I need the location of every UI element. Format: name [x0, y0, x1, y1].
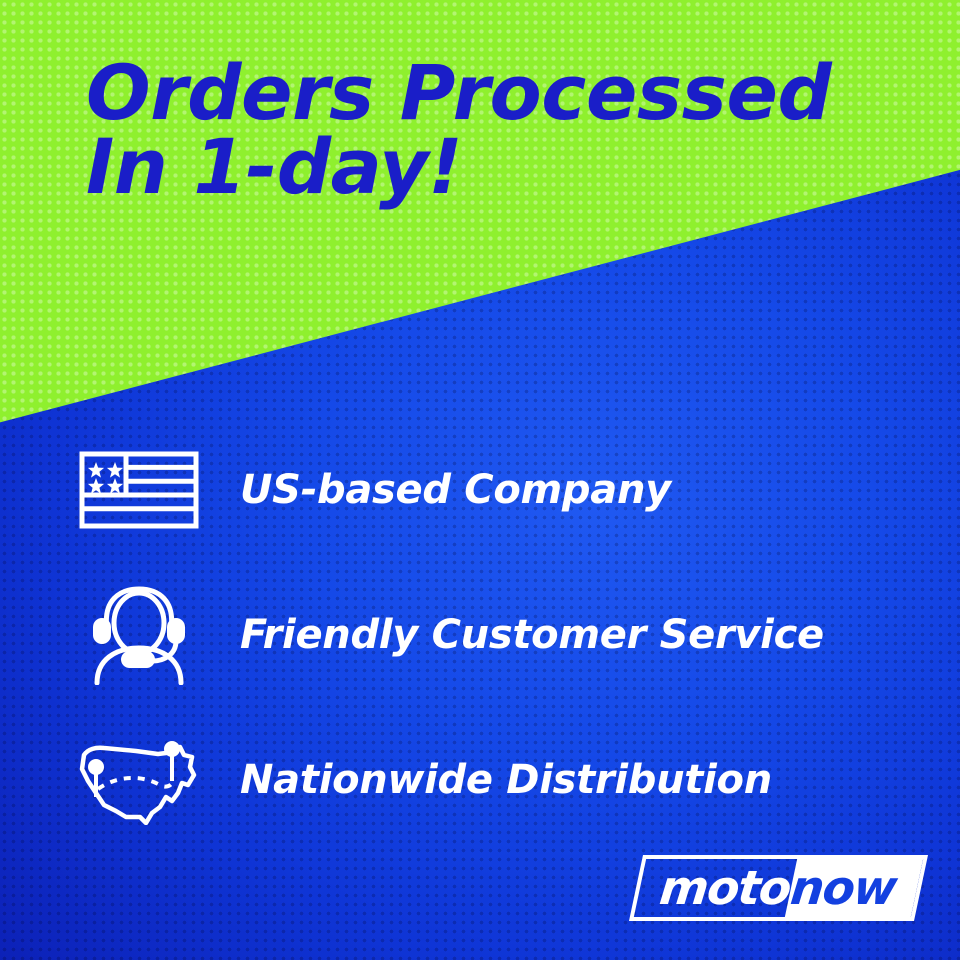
feature-list: US-based Company	[74, 440, 904, 830]
logo-word-now: now	[788, 865, 898, 912]
feature-label-us-based: US-based Company	[240, 467, 671, 513]
us-map-pins-icon	[74, 735, 204, 825]
headset-agent-icon	[74, 585, 204, 685]
promo-poster: Orders Processed In 1-day!	[0, 0, 960, 960]
feature-item-us-based: US-based Company	[74, 440, 904, 540]
headline: Orders Processed In 1-day!	[86, 56, 906, 203]
feature-item-nationwide: Nationwide Distribution	[74, 730, 904, 830]
us-flag-icon	[74, 451, 204, 529]
feature-label-customer-service: Friendly Customer Service	[240, 612, 824, 658]
logo-left-panel: moto	[634, 859, 797, 917]
logo-right-panel: now	[784, 859, 923, 917]
feature-label-nationwide: Nationwide Distribution	[240, 757, 772, 803]
logo-word-moto: moto	[657, 865, 792, 912]
motonow-logo[interactable]: moto now	[629, 855, 928, 921]
feature-item-customer-service: Friendly Customer Service	[74, 585, 904, 685]
